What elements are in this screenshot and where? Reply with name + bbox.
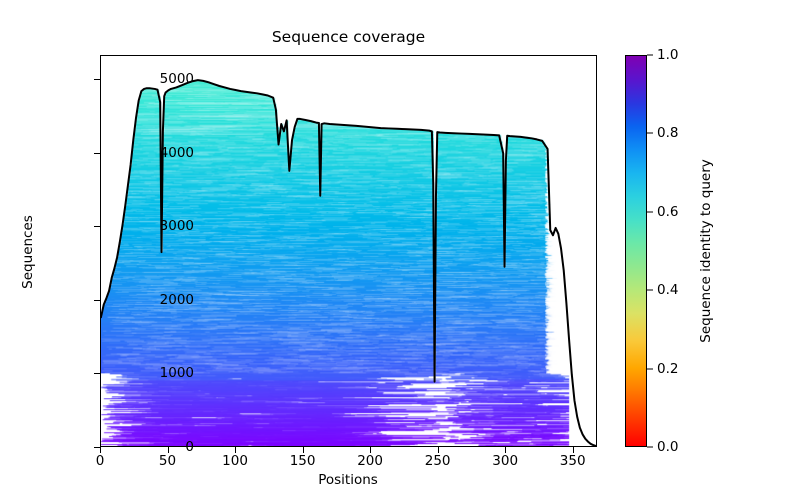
page-title: Sequence coverage	[100, 28, 597, 46]
y-tick-label: 3000	[160, 218, 194, 234]
colorbar-tick-mark	[647, 55, 653, 56]
colorbar-tick-label: 0.0	[657, 439, 678, 455]
colorbar-tick-mark	[647, 368, 653, 369]
colorbar-tick-label: 0.2	[657, 361, 678, 377]
colorbar-tick-mark	[647, 447, 653, 448]
y-tick-label: 0	[185, 439, 194, 455]
y-tick-label: 1000	[160, 365, 194, 381]
y-tick-mark	[94, 153, 100, 154]
x-tick-label: 200	[357, 453, 383, 469]
y-axis-label: Sequences	[20, 215, 36, 289]
coverage-curve	[101, 56, 596, 446]
colorbar-tick-mark	[647, 211, 653, 212]
y-tick-label: 4000	[160, 145, 194, 161]
colorbar-tick-label: 1.0	[657, 47, 678, 63]
y-tick-label: 2000	[160, 292, 194, 308]
y-tick-mark	[94, 79, 100, 80]
x-tick-label: 100	[222, 453, 248, 469]
x-tick-label: 250	[425, 453, 451, 469]
y-tick-mark	[94, 226, 100, 227]
colorbar-tick-mark	[647, 290, 653, 291]
colorbar-label: Sequence identity to query	[698, 159, 714, 343]
colorbar-gradient	[625, 55, 647, 447]
x-axis-label: Positions	[318, 472, 378, 488]
colorbar-tick-mark	[647, 133, 653, 134]
y-tick-mark	[94, 373, 100, 374]
figure-canvas: Sequence coverage 0100020003000400050000…	[0, 0, 800, 500]
plot-axes	[100, 55, 597, 447]
x-tick-label: 150	[290, 453, 316, 469]
colorbar-tick-label: 0.6	[657, 204, 678, 220]
y-tick-label: 5000	[160, 71, 194, 87]
x-tick-label: 350	[560, 453, 586, 469]
colorbar-tick-label: 0.4	[657, 282, 678, 298]
y-tick-mark	[94, 300, 100, 301]
colorbar-tick-label: 0.8	[657, 125, 678, 141]
x-tick-label: 300	[492, 453, 518, 469]
x-tick-label: 0	[96, 453, 105, 469]
x-tick-label: 50	[159, 453, 176, 469]
